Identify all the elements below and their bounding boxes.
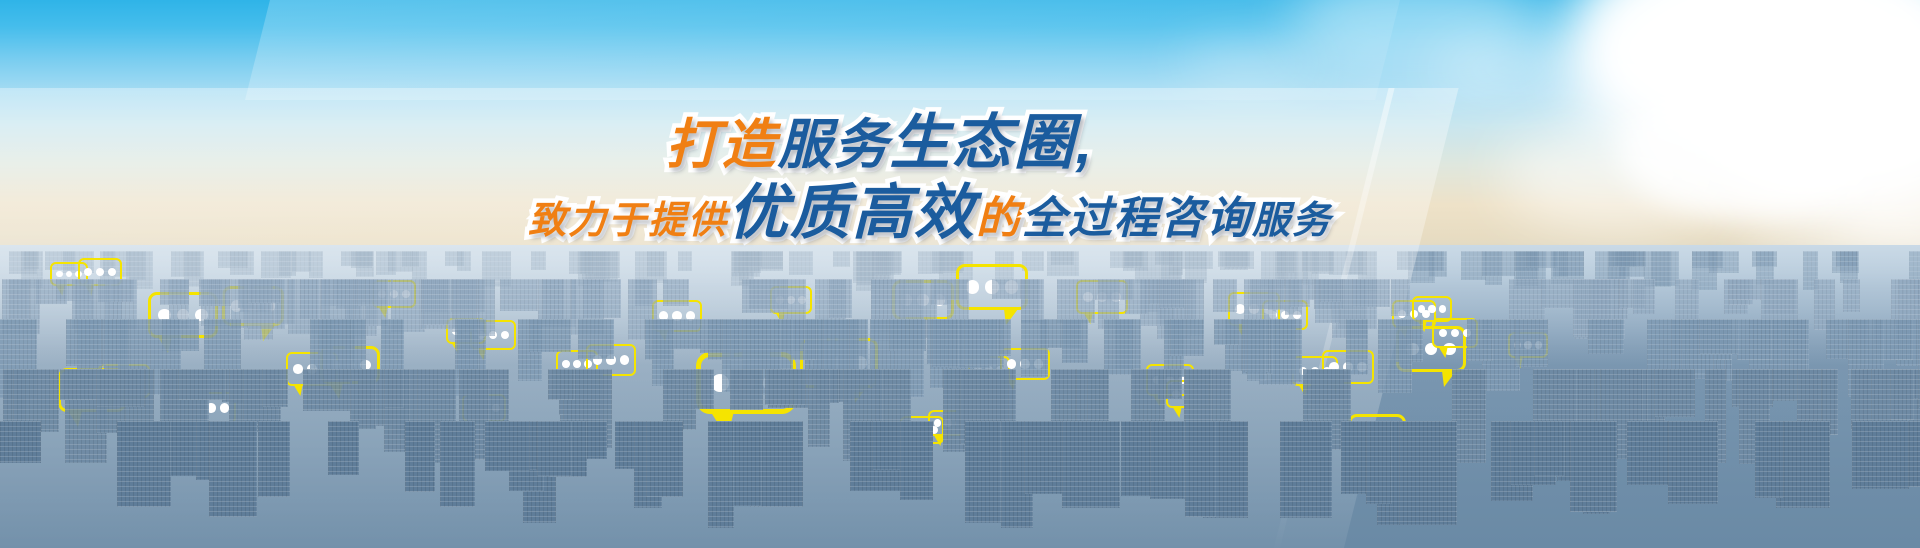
- building: [1534, 421, 1565, 476]
- building: [965, 421, 1001, 523]
- speech-bubble-dot: [1418, 305, 1425, 312]
- building: [1021, 319, 1048, 377]
- speech-bubble-dot: [501, 331, 509, 339]
- building: [708, 421, 734, 528]
- building: [1633, 279, 1655, 314]
- building: [1570, 421, 1617, 512]
- building: [350, 369, 376, 429]
- building: [932, 319, 959, 367]
- building: [1131, 369, 1165, 428]
- building: [1366, 421, 1392, 504]
- building: [1668, 421, 1718, 504]
- building: [209, 421, 257, 517]
- building: [1709, 251, 1739, 273]
- building: [1699, 319, 1739, 354]
- building: [485, 421, 530, 471]
- building: [1214, 319, 1239, 345]
- speech-bubble-dot: [562, 360, 570, 368]
- building: [1247, 319, 1266, 381]
- speech-bubble-dot: [934, 419, 941, 426]
- building: [1654, 369, 1695, 417]
- building: [247, 279, 281, 303]
- building: [1213, 279, 1237, 312]
- speech-bubble-dot: [56, 271, 63, 278]
- building: [440, 421, 475, 507]
- speech-bubble-dot: [1007, 359, 1016, 368]
- building: [1391, 279, 1410, 316]
- building: [808, 369, 830, 447]
- building: [1170, 319, 1204, 356]
- building: [1482, 251, 1515, 276]
- building: [1399, 421, 1457, 525]
- diagonal-glass-panel-top: [245, 0, 1405, 100]
- building: [537, 421, 572, 476]
- building: [9, 279, 30, 319]
- building: [199, 279, 223, 306]
- building: [160, 279, 189, 305]
- building: [889, 319, 926, 351]
- building: [947, 279, 969, 323]
- speech-bubble-dot: [1451, 329, 1459, 337]
- building: [765, 369, 806, 405]
- building: [1159, 279, 1185, 308]
- hero-banner: 打造服务生态圈, 致力于提供优质高效的全过程咨询服务: [0, 0, 1920, 548]
- building: [1452, 369, 1486, 463]
- speech-bubble-dot: [573, 360, 581, 368]
- building: [1062, 421, 1120, 508]
- building: [1280, 421, 1332, 518]
- building: [1890, 369, 1914, 420]
- building: [730, 369, 763, 410]
- building: [663, 279, 689, 306]
- building: [0, 421, 41, 463]
- building: [1320, 279, 1342, 302]
- speech-bubble-dot: [84, 268, 92, 276]
- building: [1185, 421, 1216, 517]
- building: [1057, 279, 1095, 323]
- speech-bubble-tail: [1172, 407, 1184, 418]
- building: [1852, 421, 1909, 489]
- building: [178, 369, 226, 400]
- building: [1526, 251, 1558, 268]
- speech-bubble-dot: [1439, 329, 1447, 337]
- building: [1352, 279, 1390, 307]
- speech-bubble-dot: [1439, 305, 1446, 312]
- building: [328, 421, 359, 475]
- building: [262, 369, 288, 407]
- building: [258, 421, 290, 497]
- building: [60, 369, 97, 400]
- building: [1467, 319, 1493, 361]
- building: [694, 369, 714, 409]
- building: [1185, 369, 1212, 425]
- building: [964, 319, 998, 366]
- building: [1125, 279, 1148, 314]
- building: [1290, 279, 1310, 307]
- speech-bubble-dot: [108, 268, 116, 276]
- cloud-icon: [1500, 120, 1730, 230]
- building: [829, 279, 852, 318]
- building: [1541, 279, 1576, 308]
- building: [1728, 279, 1761, 300]
- building: [303, 369, 352, 411]
- building: [1515, 319, 1548, 367]
- building: [578, 319, 614, 359]
- building: [1062, 319, 1088, 363]
- building: [500, 279, 538, 311]
- building: [77, 319, 102, 376]
- building: [1346, 319, 1368, 375]
- building: [1776, 421, 1830, 508]
- building: [1104, 319, 1134, 375]
- building: [117, 421, 171, 507]
- building: [1021, 279, 1040, 323]
- speech-bubble-dot: [66, 271, 73, 278]
- building: [357, 279, 393, 306]
- building: [1609, 251, 1637, 267]
- building: [405, 421, 435, 492]
- building: [1588, 319, 1624, 354]
- speech-bubble-dot: [620, 355, 629, 364]
- building: [791, 319, 817, 360]
- building: [104, 319, 129, 370]
- building: [423, 279, 450, 325]
- building: [529, 319, 571, 352]
- building: [96, 369, 145, 407]
- speech-bubble-dot: [293, 364, 303, 374]
- building: [1150, 421, 1185, 499]
- building: [900, 421, 933, 500]
- building: [384, 369, 404, 408]
- building: [1843, 279, 1860, 312]
- speech-bubble-dot: [96, 268, 104, 276]
- building: [1832, 251, 1859, 273]
- building: [1755, 421, 1784, 498]
- building: [321, 279, 354, 323]
- building: [548, 369, 575, 400]
- building: [1914, 279, 1920, 306]
- building: [1737, 319, 1772, 360]
- building: [742, 279, 780, 313]
- speech-bubble-dot: [220, 403, 229, 412]
- speech-bubble-dot: [1428, 305, 1435, 312]
- building: [646, 421, 683, 497]
- building: [1378, 319, 1412, 393]
